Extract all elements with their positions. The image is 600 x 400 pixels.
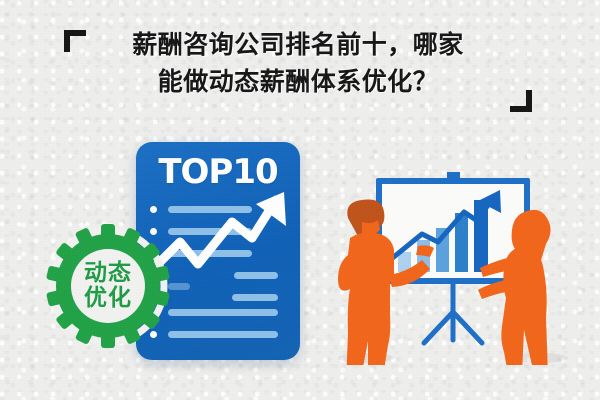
- gear-icon: [44, 222, 172, 350]
- headline-line-2: 能做动态薪酬体系优化？: [78, 65, 518, 99]
- dynamic-optimization-gear-badge: 动态 优化: [44, 222, 172, 350]
- presentation-scene: [318, 160, 588, 365]
- whiteboard-stand-icon: [424, 280, 482, 343]
- poster-canvas: 薪酬咨询公司排名前十，哪家 能做动态薪酬体系优化？ TOP10: [0, 0, 600, 400]
- headline-block: 薪酬咨询公司排名前十，哪家 能做动态薪酬体系优化？: [78, 28, 518, 99]
- headline-line-1: 薪酬咨询公司排名前十，哪家: [78, 28, 518, 62]
